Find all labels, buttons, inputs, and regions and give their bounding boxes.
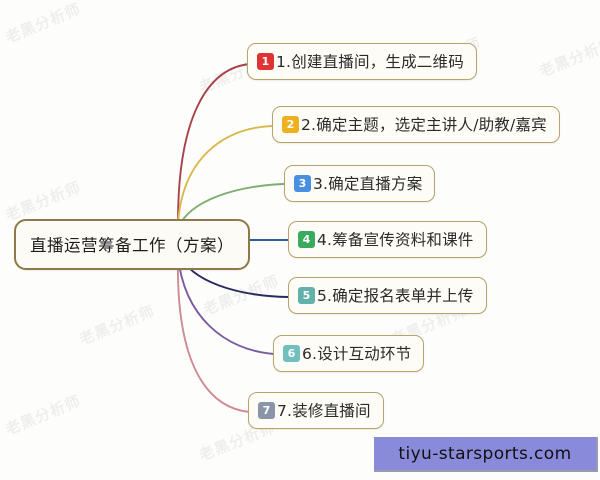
branch-node-5[interactable]: 5 5.确定报名表单并上传 xyxy=(288,277,487,314)
branch-node-2[interactable]: 2 2.确定主题，选定主讲人/助教/嘉宾 xyxy=(272,106,560,143)
site-url-banner: tiyu-starsports.com xyxy=(374,437,598,472)
branch-node-7[interactable]: 7 7.装修直播间 xyxy=(248,392,384,429)
link-to-node-7 xyxy=(178,258,250,412)
branch-node-3[interactable]: 3 3.确定直播方案 xyxy=(284,165,435,202)
branch-node-4[interactable]: 4 4.筹备宣传资料和课件 xyxy=(288,221,487,258)
root-node[interactable]: 直播运营筹备工作（方案） xyxy=(14,219,250,270)
mind-map-canvas: 老黑分析师老黑分析师老黑分析师老黑分析师老黑分析师老黑分析师老黑分析师老黑分析师… xyxy=(0,0,600,480)
branch-label-3: 3.确定直播方案 xyxy=(313,172,422,194)
branch-label-4: 4.筹备宣传资料和课件 xyxy=(317,228,474,250)
branch-node-6[interactable]: 6 6.设计互动环节 xyxy=(273,335,424,372)
branch-badge-7: 7 xyxy=(258,402,275,419)
branch-badge-4: 4 xyxy=(298,231,315,248)
site-url-text: tiyu-starsports.com xyxy=(398,444,571,464)
branch-badge-3: 3 xyxy=(294,175,311,192)
branch-node-1[interactable]: 1 1.创建直播间，生成二维码 xyxy=(247,43,477,80)
branch-badge-6: 6 xyxy=(283,345,300,362)
branch-badge-2: 2 xyxy=(282,116,299,133)
branch-label-7: 7.装修直播间 xyxy=(277,399,371,421)
branch-badge-5: 5 xyxy=(298,287,315,304)
branch-label-6: 6.设计互动环节 xyxy=(302,342,411,364)
branch-label-5: 5.确定报名表单并上传 xyxy=(317,284,474,306)
root-node-label: 直播运营筹备工作（方案） xyxy=(30,232,234,256)
branch-label-1: 1.创建直播间，生成二维码 xyxy=(276,50,464,72)
branch-badge-1: 1 xyxy=(257,53,274,70)
branch-label-2: 2.确定主题，选定主讲人/助教/嘉宾 xyxy=(301,113,547,135)
